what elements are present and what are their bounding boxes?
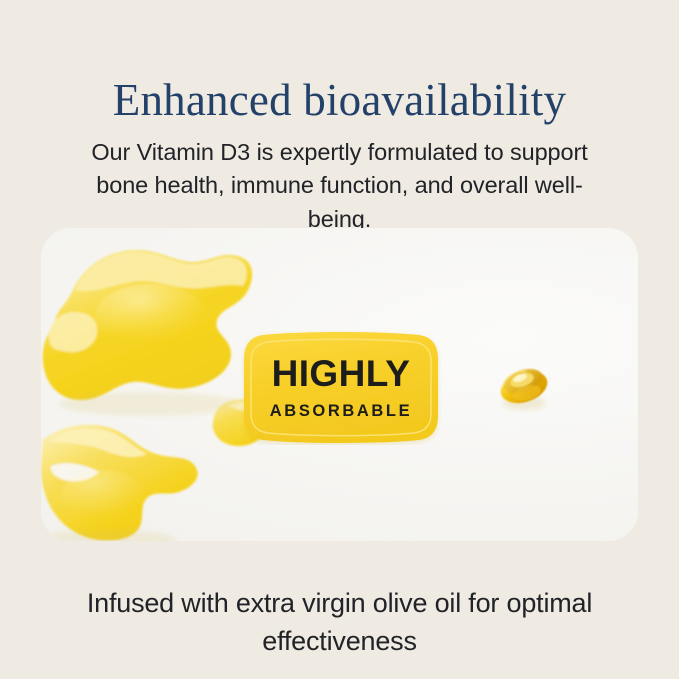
- softgel-capsule: [493, 359, 555, 413]
- product-feature-page: Enhanced bioavailability Our Vitamin D3 …: [0, 0, 679, 679]
- card-caption: Infused with extra virgin olive oil for …: [60, 584, 620, 660]
- page-title: Enhanced bioavailability: [0, 74, 679, 126]
- page-subtitle: Our Vitamin D3 is expertly formulated to…: [75, 136, 605, 237]
- product-image-card: HIGHLY ABSORBABLE: [41, 228, 638, 541]
- badge-shape: [241, 330, 441, 445]
- highly-absorbable-badge: HIGHLY ABSORBABLE: [241, 330, 441, 445]
- capsule-illustration: [493, 359, 555, 413]
